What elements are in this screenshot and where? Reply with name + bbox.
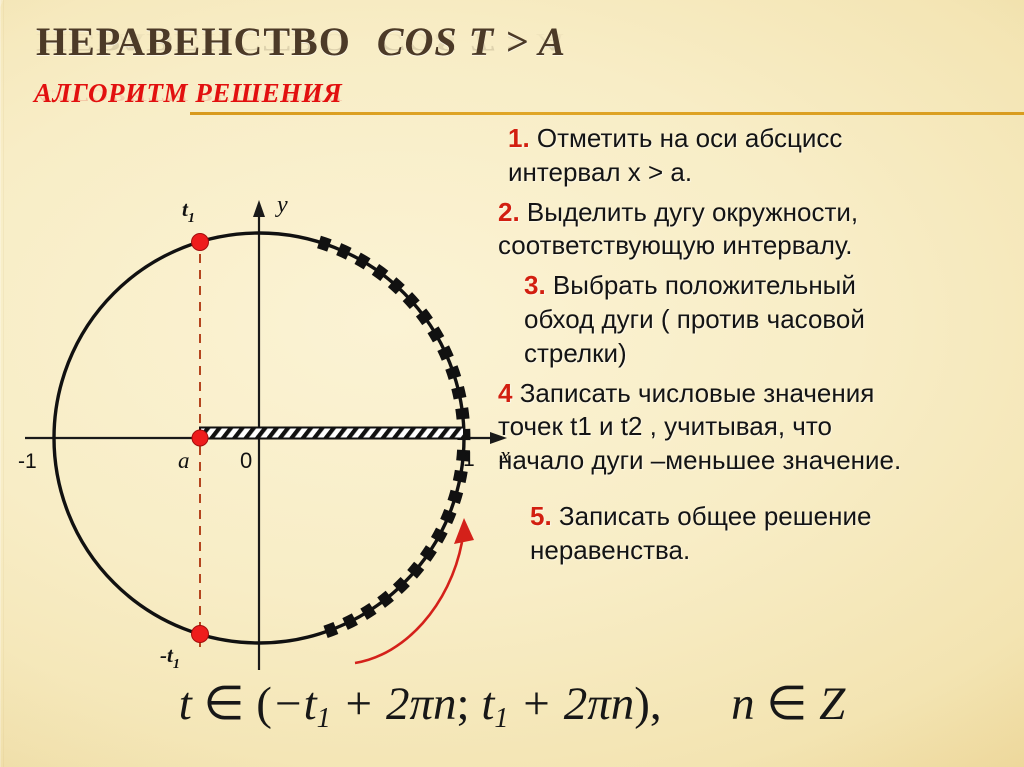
step-3-line-1: Выбрать положительный — [553, 270, 856, 300]
header-divider — [190, 112, 1024, 115]
step-1-line-1: Отметить на оси абсцисс — [537, 123, 842, 153]
label-a: a — [178, 448, 190, 473]
step-3: 3. Выбрать положительный обход дуги ( пр… — [524, 269, 1024, 370]
slide-header: НЕРАВЕНСТВОCOS T > A НЕРАВЕНСТВОCOS T > … — [0, 0, 1024, 116]
formula-term-1-subscript: 1 — [317, 703, 331, 734]
label-minus-t1: -t1 — [160, 643, 180, 672]
formula-rhs-set: Z — [819, 678, 845, 730]
interval-hatched-bar — [200, 428, 464, 439]
step-3-line-3: стрелки) — [524, 338, 627, 368]
point-t1 — [192, 234, 209, 251]
page-subtitle: АЛГОРИТМ РЕШЕНИЯ — [34, 78, 342, 109]
formula-open-paren: ( — [256, 678, 272, 730]
step-3-line-2: обход дуги ( против часовой — [524, 304, 865, 334]
step-5: 5. Записать общее решение неравенства. — [530, 500, 1024, 568]
step-4-line-3: начало дуги –меньшее значение. — [498, 445, 901, 475]
solution-formula: t ∈ (−t1 + 2πn; t1 + 2πn), n ∈ Z — [0, 676, 1024, 735]
formula-separator: ; — [457, 678, 470, 730]
formula-term-2-subscript: 1 — [494, 703, 508, 734]
step-2-line-2: соответствующую интервалу. — [498, 230, 853, 260]
step-4-number: 4 — [498, 378, 512, 408]
formula-term-1: −t — [272, 678, 317, 730]
formula-close-paren: ) — [634, 678, 650, 730]
formula-comma: , — [650, 678, 662, 730]
step-1-line-2: интервал x > a. — [508, 157, 692, 187]
unit-circle-diagram: t1 -t1 y x 0 -1 1 a — [0, 150, 512, 690]
formula-in-symbol: ∈ — [204, 678, 245, 730]
step-4-line-1: Записать числовые значения — [520, 378, 875, 408]
step-2-number: 2. — [498, 197, 520, 227]
step-1-number: 1. — [508, 123, 530, 153]
direction-arrow-icon — [355, 518, 474, 663]
page-title-math: COS T > A — [377, 19, 566, 64]
formula-term-2: t — [481, 678, 494, 730]
formula-rhs-in-symbol: ∈ — [766, 678, 807, 730]
step-5-line-2: неравенства. — [530, 535, 690, 565]
point-a — [192, 430, 208, 446]
step-4: 4 Записать числовые значения точек t1 и … — [498, 377, 1024, 478]
algorithm-steps: 1. Отметить на оси абсцисс интервал x > … — [498, 122, 1024, 574]
step-4-line-2: точек t1 и t2 , учитывая, что — [498, 411, 832, 441]
y-axis-arrowhead — [253, 200, 265, 217]
formula-lhs: t — [179, 678, 192, 730]
page-title-main: НЕРАВЕНСТВО — [36, 19, 351, 64]
page-title: НЕРАВЕНСТВОCOS T > A — [36, 18, 566, 65]
step-2: 2. Выделить дугу окружности, соответству… — [498, 196, 1024, 264]
label-t1: t1 — [182, 197, 195, 226]
label-minus-one: -1 — [18, 450, 37, 473]
formula-rhs-variable: n — [731, 678, 755, 730]
step-1: 1. Отметить на оси абсцисс интервал x > … — [508, 122, 1024, 190]
step-3-number: 3. — [524, 270, 546, 300]
label-one: 1 — [463, 448, 475, 471]
step-5-line-1: Записать общее решение — [559, 501, 872, 531]
formula-plus-2: + 2πn — [520, 678, 634, 730]
slide-root: НЕРАВЕНСТВОCOS T > A НЕРАВЕНСТВОCOS T > … — [0, 0, 1024, 767]
label-origin: 0 — [240, 448, 252, 473]
label-y-axis: y — [275, 192, 288, 218]
point-minus-t1 — [192, 626, 209, 643]
formula-plus-1: + 2πn — [343, 678, 457, 730]
step-5-number: 5. — [530, 501, 552, 531]
step-2-line-1: Выделить дугу окружности, — [527, 197, 858, 227]
